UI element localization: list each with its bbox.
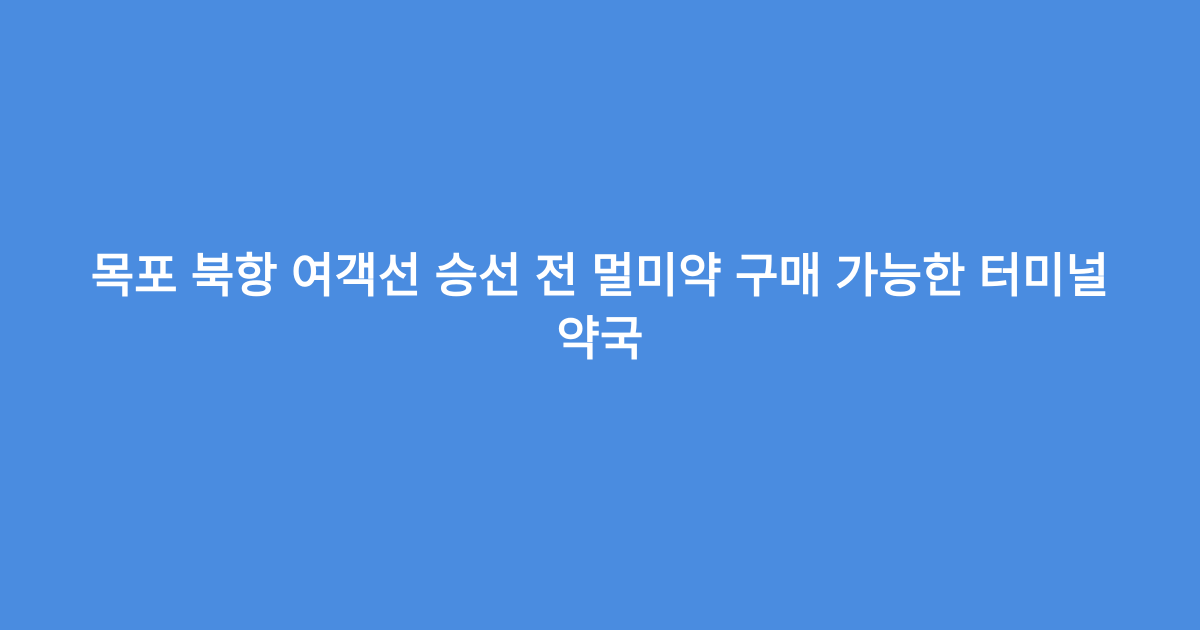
og-share-card: 목포 북항 여객선 승선 전 멀미약 구매 가능한 터미널 약국 (0, 0, 1200, 630)
card-title: 목포 북항 여객선 승선 전 멀미약 구매 가능한 터미널 약국 (60, 244, 1140, 370)
card-content-wrapper: 목포 북항 여객선 승선 전 멀미약 구매 가능한 터미널 약국 (0, 244, 1200, 370)
